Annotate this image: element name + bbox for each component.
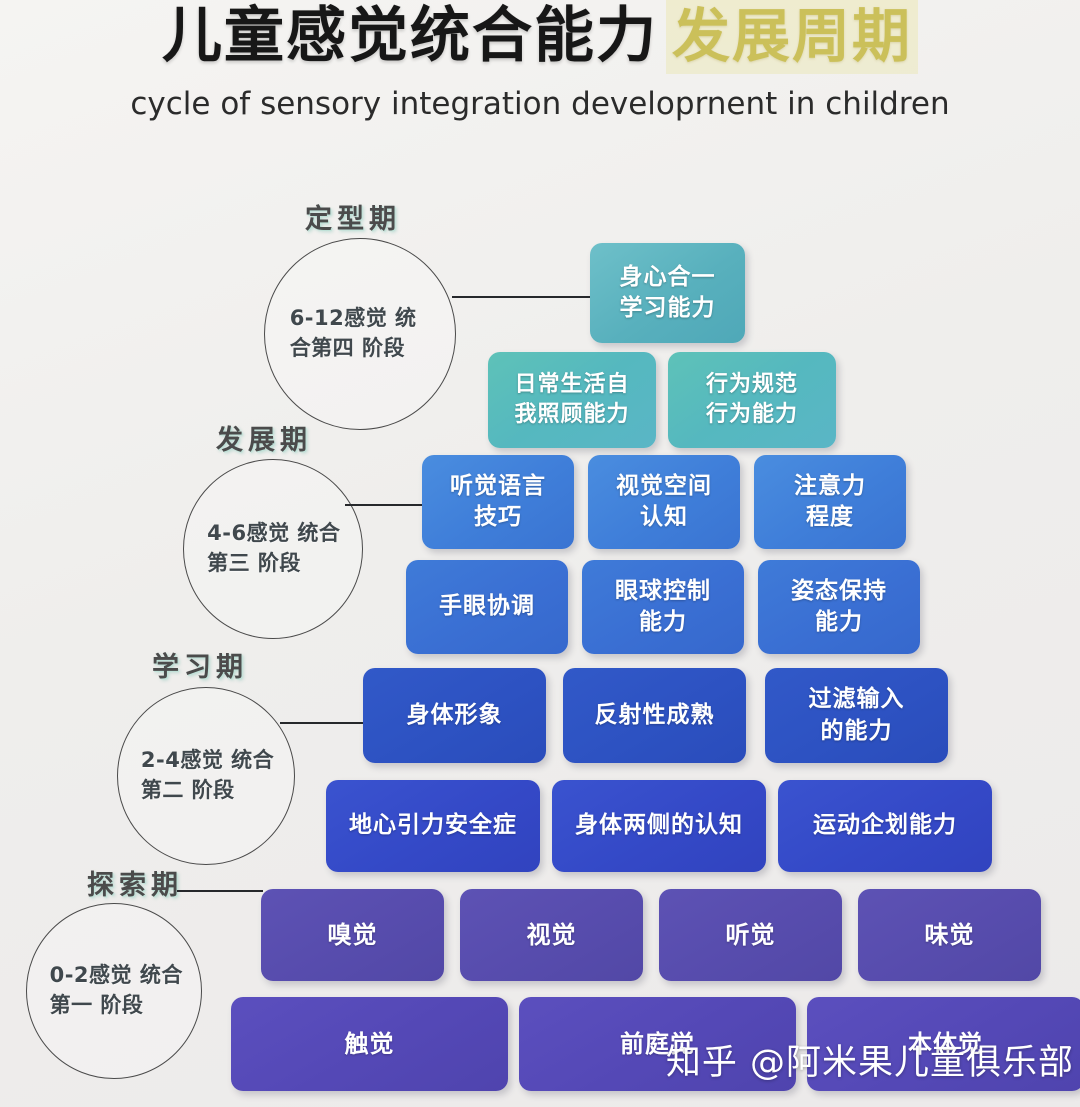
page-title-accent: 发展周期 xyxy=(666,0,918,74)
connector-line-3 xyxy=(177,890,263,892)
pyramid-box-4-0[interactable]: 身体形象 xyxy=(363,668,546,763)
pyramid-box-5-0[interactable]: 地心引力安全症 xyxy=(326,780,540,872)
pyramid-box-label: 注意力 程度 xyxy=(794,471,866,533)
connector-line-0 xyxy=(452,296,594,298)
pyramid-box-6-3[interactable]: 味觉 xyxy=(858,889,1041,981)
pyramid-box-3-0[interactable]: 手眼协调 xyxy=(406,560,568,654)
stage-label-2: 学习期 xyxy=(152,645,248,684)
stage-circle-text-1: 4-6感觉 统合第三 阶段 xyxy=(207,519,346,579)
pyramid-box-2-0[interactable]: 听觉语言 技巧 xyxy=(422,455,574,549)
stage-circle-1: 4-6感觉 统合第三 阶段 xyxy=(183,459,363,639)
pyramid-box-label: 触觉 xyxy=(345,1028,395,1060)
pyramid-box-5-2[interactable]: 运动企划能力 xyxy=(778,780,992,872)
pyramid-box-7-0[interactable]: 触觉 xyxy=(231,997,508,1091)
pyramid-box-label: 运动企划能力 xyxy=(813,810,957,841)
pyramid-box-label: 行为规范 行为能力 xyxy=(706,370,798,429)
pyramid-box-6-1[interactable]: 视觉 xyxy=(460,889,643,981)
watermark: 知乎 @阿米果儿童俱乐部 xyxy=(666,1034,1074,1085)
pyramid-box-label: 听觉 xyxy=(726,919,776,951)
pyramid-box-label: 反射性成熟 xyxy=(595,700,715,731)
connector-line-1 xyxy=(345,504,424,506)
stage-circle-text-2: 2-4感觉 统合第二 阶段 xyxy=(141,746,278,806)
stage-label-3: 探索期 xyxy=(87,863,183,902)
pyramid-box-3-2[interactable]: 姿态保持 能力 xyxy=(758,560,920,654)
stage-circle-3: 0-2感觉 统合第一 阶段 xyxy=(26,903,202,1079)
pyramid-box-label: 听觉语言 技巧 xyxy=(450,471,546,533)
pyramid-box-2-1[interactable]: 视觉空间 认知 xyxy=(588,455,740,549)
stage-circle-0: 6-12感觉 统合第四 阶段 xyxy=(264,238,456,430)
pyramid-box-2-2[interactable]: 注意力 程度 xyxy=(754,455,906,549)
pyramid-box-label: 味觉 xyxy=(925,919,975,951)
pyramid-box-label: 姿态保持 能力 xyxy=(791,576,887,638)
pyramid-box-label: 身体两侧的认知 xyxy=(575,810,743,841)
pyramid-box-5-1[interactable]: 身体两侧的认知 xyxy=(552,780,766,872)
pyramid-box-3-1[interactable]: 眼球控制 能力 xyxy=(582,560,744,654)
pyramid-box-label: 过滤输入 的能力 xyxy=(809,684,905,746)
pyramid-box-label: 视觉空间 认知 xyxy=(616,471,712,533)
connector-line-2 xyxy=(280,722,366,724)
pyramid-box-1-1[interactable]: 行为规范 行为能力 xyxy=(668,352,836,448)
pyramid-box-6-2[interactable]: 听觉 xyxy=(659,889,842,981)
title-row: 儿童感觉统合能力发展周期 xyxy=(0,6,1080,66)
page-subtitle: cycle of sensory integration developrnen… xyxy=(0,86,1080,122)
pyramid-box-label: 手眼协调 xyxy=(439,591,535,622)
pyramid-box-label: 嗅觉 xyxy=(328,919,378,951)
pyramid-box-1-0[interactable]: 日常生活自 我照顾能力 xyxy=(488,352,656,448)
header: 儿童感觉统合能力发展周期 cycle of sensory integratio… xyxy=(0,0,1080,140)
pyramid-box-0-0[interactable]: 身心合一 学习能力 xyxy=(590,243,745,343)
pyramid-box-4-2[interactable]: 过滤输入 的能力 xyxy=(765,668,948,763)
infographic-root: 儿童感觉统合能力发展周期 cycle of sensory integratio… xyxy=(0,0,1080,1107)
pyramid-box-label: 眼球控制 能力 xyxy=(615,576,711,638)
pyramid-box-label: 身体形象 xyxy=(407,700,503,731)
pyramid-box-label: 地心引力安全症 xyxy=(349,810,517,841)
stage-circle-2: 2-4感觉 统合第二 阶段 xyxy=(117,687,295,865)
stage-label-0: 定型期 xyxy=(305,197,401,236)
page-title: 儿童感觉统合能力 xyxy=(162,1,658,71)
stage-circle-text-0: 6-12感觉 统合第四 阶段 xyxy=(290,304,438,364)
pyramid-box-label: 身心合一 学习能力 xyxy=(620,262,716,324)
pyramid-box-6-0[interactable]: 嗅觉 xyxy=(261,889,444,981)
pyramid-box-4-1[interactable]: 反射性成熟 xyxy=(563,668,746,763)
stage-label-1: 发展期 xyxy=(216,418,312,457)
pyramid-box-label: 日常生活自 我照顾能力 xyxy=(514,370,629,429)
pyramid-box-label: 视觉 xyxy=(527,919,577,951)
stage-circle-text-3: 0-2感觉 统合第一 阶段 xyxy=(50,961,186,1021)
